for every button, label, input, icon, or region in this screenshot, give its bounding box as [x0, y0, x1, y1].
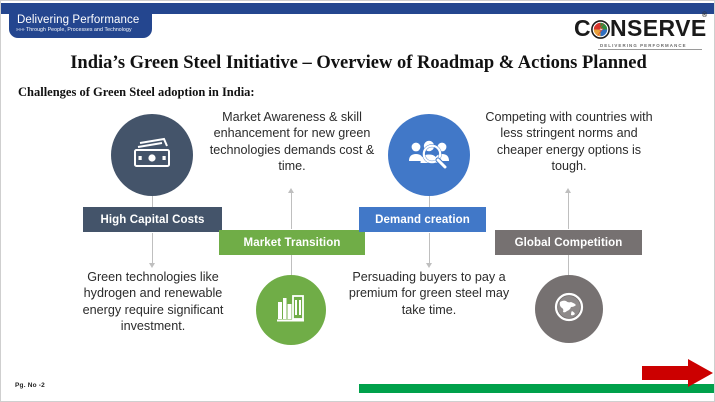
brand-badge-subtitle: Through People, Processes and Technology: [17, 27, 146, 34]
blurb-market-transition: Market Awareness & skill enhancement for…: [204, 109, 380, 175]
arrow-down-icon-col3: [426, 263, 432, 268]
label-box-market-transition[interactable]: Market Transition: [219, 230, 365, 255]
market-research-icon: [408, 137, 450, 174]
label-text-market-transition: Market Transition: [244, 237, 341, 249]
books-icon: [276, 293, 306, 328]
blurb-demand-creation: Persuading buyers to pay a premium for g…: [348, 269, 510, 318]
connector-line-col3-bottom: [429, 233, 430, 263]
arrow-up-icon-col2: [288, 188, 294, 193]
registered-trademark-icon: ®: [702, 12, 708, 19]
blurb-high-capital-costs: Green technologies like hydrogen and ren…: [67, 269, 239, 335]
money-icon: [132, 137, 172, 174]
logo-tagline: DELIVERING PERFORMANCE: [600, 43, 687, 48]
label-text-demand-creation: Demand creation: [375, 214, 470, 226]
icon-circle-market-transition[interactable]: [256, 275, 326, 345]
label-text-high-capital-costs: High Capital Costs: [100, 214, 204, 226]
logo-globe-icon: [591, 20, 610, 39]
icon-circle-high-capital-costs[interactable]: [111, 114, 193, 196]
blurb-global-competition: Competing with countries with less strin…: [479, 109, 659, 175]
footer-red-arrow-icon: [642, 358, 714, 388]
connector-line-col1-bottom: [152, 233, 153, 263]
logo-divider: [598, 49, 702, 50]
arrow-down-icon-col1: [149, 263, 155, 268]
label-box-global-competition[interactable]: Global Competition: [495, 230, 642, 255]
page-number: Pg. No -2: [15, 382, 45, 389]
challenges-diagram: High Capital Costs Green technologies li…: [1, 97, 715, 367]
icon-circle-global-competition[interactable]: [535, 275, 603, 343]
arrow-up-icon-col4: [565, 188, 571, 193]
logo-letter-c: C: [574, 15, 591, 41]
globe-icon: [553, 291, 585, 328]
page-title: India’s Green Steel Initiative – Overvie…: [1, 53, 715, 74]
label-box-high-capital-costs[interactable]: High Capital Costs: [83, 207, 222, 232]
brand-badge: Delivering Performance Through People, P…: [9, 12, 152, 38]
icon-circle-demand-creation[interactable]: [388, 114, 470, 196]
connector-line-col4-top: [568, 193, 569, 229]
slide: Delivering Performance Through People, P…: [0, 0, 715, 402]
brand-badge-title: Delivering Performance: [17, 14, 146, 27]
label-box-demand-creation[interactable]: Demand creation: [359, 207, 486, 232]
connector-line-col2-top: [291, 193, 292, 229]
logo-wordmark: CNSERVE®: [574, 15, 707, 42]
label-text-global-competition: Global Competition: [515, 237, 623, 249]
logo-letters-nserve: NSERVE: [610, 15, 707, 41]
conserve-logo: CNSERVE® DELIVERING PERFORMANCE: [574, 15, 706, 47]
